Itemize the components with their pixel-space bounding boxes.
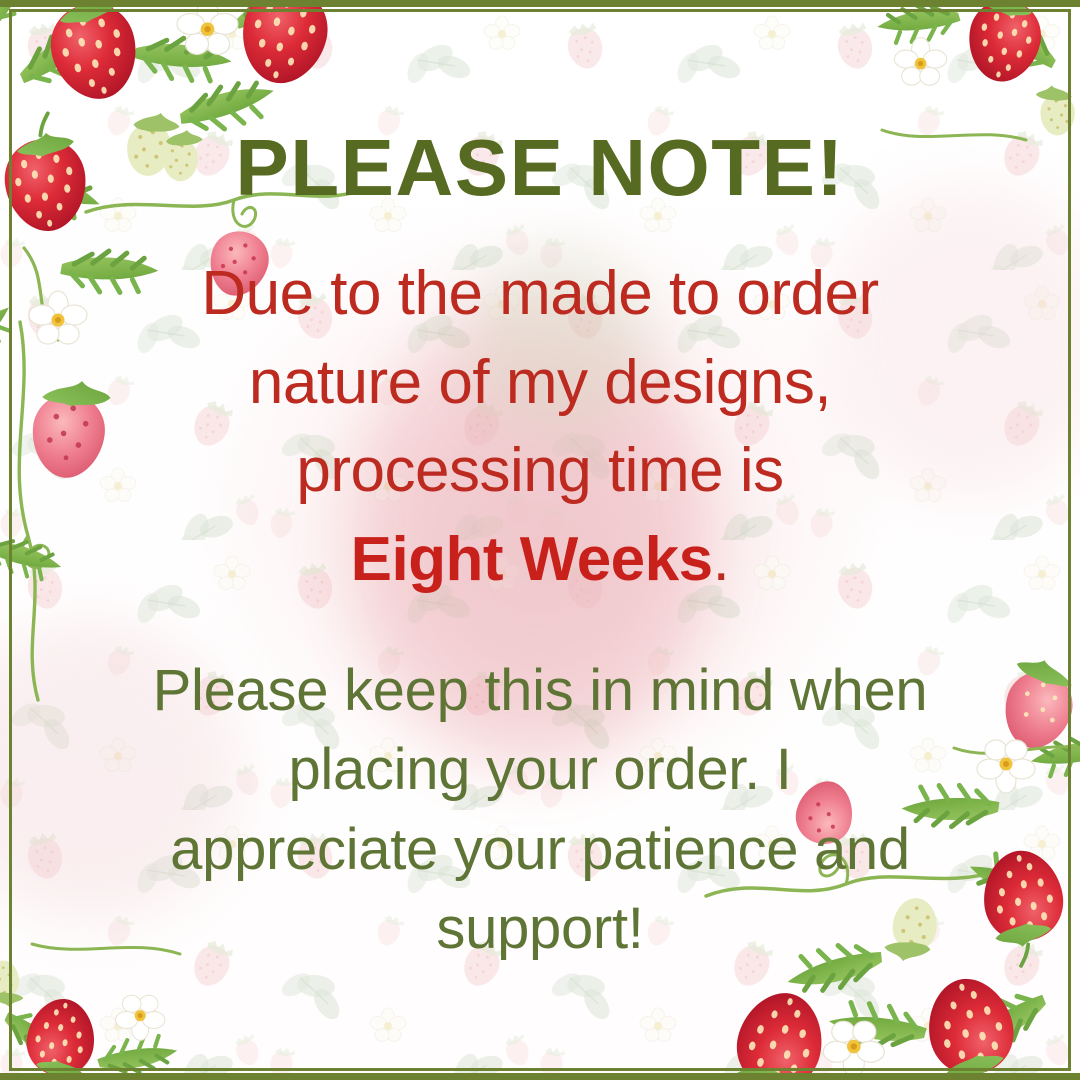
green-line-1: Please keep this in mind when — [52, 651, 1028, 730]
page-title: PLEASE NOTE! — [0, 0, 1080, 208]
processing-time-period: . — [713, 525, 730, 594]
green-line-3: appreciate your patience and — [52, 810, 1028, 889]
note-card: PLEASE NOTE! Due to the made to order na… — [0, 0, 1080, 1080]
green-line-4: support! — [52, 889, 1028, 968]
red-line-2: nature of my designs, — [52, 339, 1028, 428]
red-line-3: processing time is — [52, 427, 1028, 516]
processing-time-value: Eight Weeks — [351, 525, 713, 594]
red-line-1: Due to the made to order — [52, 250, 1028, 339]
note-content: PLEASE NOTE! Due to the made to order na… — [0, 0, 1080, 968]
patience-message: Please keep this in mind when placing yo… — [0, 605, 1080, 969]
green-line-2: placing your order. I — [52, 730, 1028, 809]
processing-time-value-line: Eight Weeks. — [52, 516, 1028, 605]
processing-time-message: Due to the made to order nature of my de… — [0, 208, 1080, 605]
